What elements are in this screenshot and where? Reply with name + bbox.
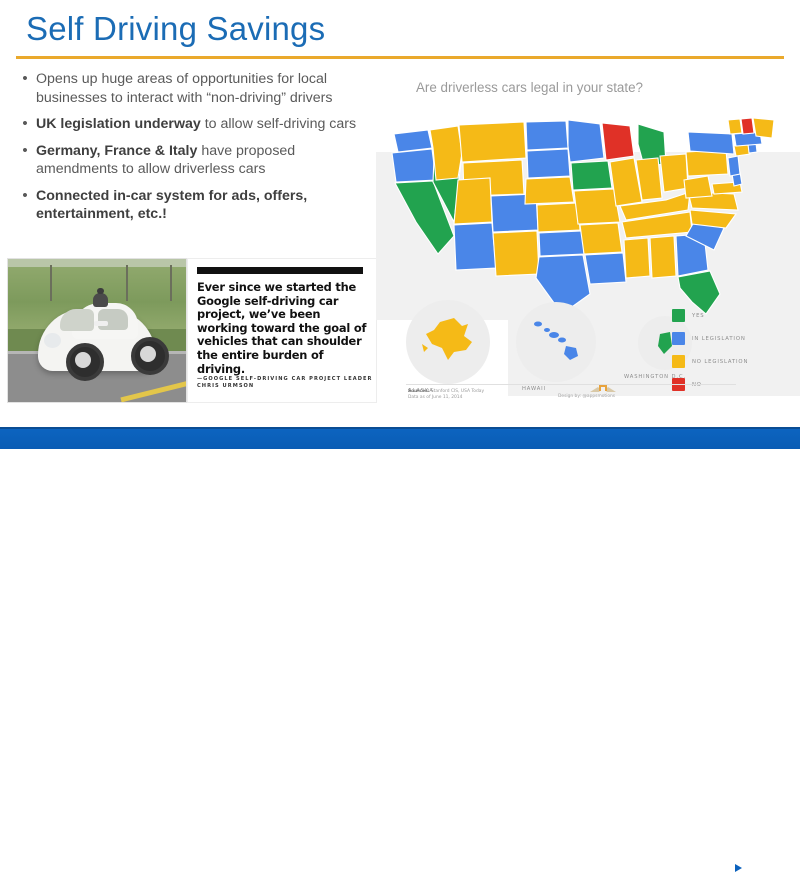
car-side-window [98,309,128,330]
list-item: • UK legislation underway to allow self-… [14,115,366,134]
fence-post [170,265,172,301]
state-NM [493,231,539,276]
lidar-sensor-icon [93,293,108,307]
list-item: • Opens up huge areas of opportunities f… [14,70,366,107]
bullet-list: • Opens up huge areas of opportunities f… [14,70,366,232]
state-OH [660,154,688,192]
map-question: Are driverless cars legal in your state? [416,80,643,95]
state-ID [430,126,462,180]
sources-text: Stanford CIS, USA Today [429,389,484,394]
bullet-marker: • [14,70,36,107]
state-OK [539,231,584,256]
state-AL [650,236,676,278]
inset-hawaii: HAWAII [516,302,606,396]
list-item: • Connected in-car system for ads, offer… [14,187,366,224]
state-MT [459,122,526,162]
car-mirror [94,321,108,326]
state-VT [728,119,742,134]
car-wheel [131,337,169,375]
state-MS [624,238,650,278]
legend-swatch-in-legislation [672,332,685,345]
bullet-text: Opens up huge areas of opportunities for… [36,70,366,107]
bullet-marker: • [14,142,36,179]
title-divider [16,56,784,59]
bullet-marker: • [14,115,36,134]
legend-label: NO LEGISLATION [692,359,748,365]
state-UT [454,178,492,224]
state-LA [585,253,626,284]
slide-root: Self Driving Savings • Opens up huge are… [0,0,800,449]
page-title: Self Driving Savings [26,10,325,48]
state-MO [574,189,620,224]
state-WI [602,123,634,160]
state-MN [568,120,604,162]
sources-label: Sources: [408,389,429,394]
inset-alaska: ALASKA [406,300,498,396]
fence-post [50,265,52,301]
bullet-text: Germany, France & Italy have proposed am… [36,142,366,179]
legend-swatch-yes [672,309,685,322]
appsmotions-logo-icon [588,383,618,396]
bullet-text: Connected in-car system for ads, offers,… [36,187,366,224]
quote-card: Ever since we started the Google self-dr… [188,259,376,402]
state-AR [580,223,622,254]
legend-item-yes[interactable]: YES [672,304,792,327]
quote-attribution-line1: —GOOGLE SELF-DRIVING CAR PROJECT LEADER [197,376,373,383]
data-date: Data as of June 11, 2014 [408,395,484,401]
legend-label: IN LEGISLATION [692,336,746,342]
map-sources: Sources: Stanford CIS, USA Today Data as… [408,389,484,402]
car-headlight [44,333,61,348]
map-panel: Are driverless cars legal in your state? [376,62,800,417]
state-NE [525,177,574,204]
bing-mark-icon [731,861,746,876]
state-IA [571,161,612,190]
bullet-marker: • [14,187,36,224]
car-windshield [60,309,94,331]
state-NJ [728,156,740,176]
state-OR [392,149,436,182]
inset-label: HAWAII [522,386,546,392]
alaska-shape [406,300,490,384]
state-ND [526,121,568,150]
quote-rule [197,267,363,274]
hawaii-shape [516,302,596,382]
fence-post [126,265,128,301]
bullet-text: UK legislation underway to allow self-dr… [36,115,356,134]
state-SD [527,149,570,178]
quote-text: Ever since we started the Google self-dr… [197,281,369,376]
legend-item-in-legislation[interactable]: IN LEGISLATION [672,327,792,350]
quote-attribution-line2: CHRIS URMSON [197,383,373,390]
state-WA [394,130,432,152]
state-ME [753,118,774,138]
quote-attribution: —GOOGLE SELF-DRIVING CAR PROJECT LEADER … [197,376,373,390]
car-wheel [66,343,104,381]
state-NY [688,132,734,154]
state-KS [537,203,580,232]
self-driving-car-photo [8,259,186,402]
bing-logo[interactable]: bing [731,860,778,876]
list-item: • Germany, France & Italy have proposed … [14,142,366,179]
legend-item-no-legislation[interactable]: NO LEGISLATION [672,350,792,373]
bing-wordmark: bing [750,860,778,876]
state-PA [686,150,728,176]
legend-label: YES [692,313,705,319]
us-choropleth-map[interactable] [376,118,800,328]
state-AZ [454,223,496,270]
state-NH [741,118,754,134]
footer-bar: bing [0,429,800,449]
legend-swatch-no-legislation [672,355,685,368]
source-divider [406,384,736,385]
state-WV [684,176,712,198]
map-legend: YES IN LEGISLATION NO LEGISLATION NO [672,304,792,396]
